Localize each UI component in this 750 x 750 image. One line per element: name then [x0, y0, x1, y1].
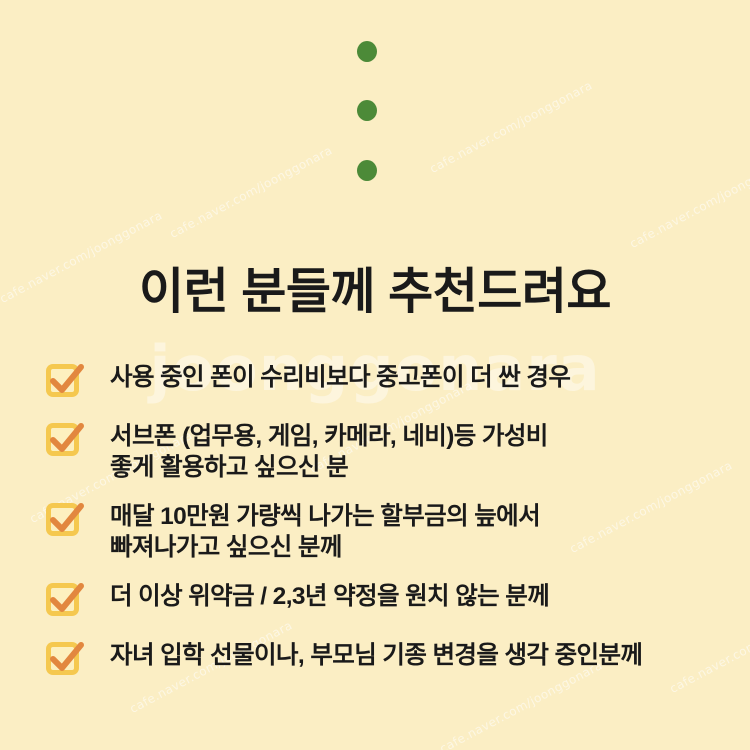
- recommendation-checklist: 사용 중인 폰이 수리비보다 중고폰이 더 싼 경우 서브폰 (업무용, 게임,…: [44, 356, 744, 693]
- list-item-line: 사용 중인 폰이 수리비보다 중고폰이 더 싼 경우: [110, 362, 570, 393]
- list-item: 사용 중인 폰이 수리비보다 중고폰이 더 싼 경우: [44, 356, 744, 401]
- list-item-line: 자녀 입학 선물이나, 부모님 기종 변경을 생각 중인분께: [110, 640, 642, 671]
- list-item: 자녀 입학 선물이나, 부모님 기종 변경을 생각 중인분께: [44, 634, 744, 679]
- checkbox-checked-icon: [44, 578, 86, 620]
- checkbox-checked-icon: [44, 637, 86, 679]
- list-item: 더 이상 위약금 / 2,3년 약정을 원치 않는 분께: [44, 575, 744, 620]
- list-item-text: 자녀 입학 선물이나, 부모님 기종 변경을 생각 중인분께: [110, 634, 642, 671]
- list-item-line: 매달 10만원 가량씩 나가는 할부금의 늪에서: [110, 501, 540, 532]
- green-dot-icon: [357, 41, 377, 62]
- watermark-tile: cafe.naver.com/joonggonara: [167, 143, 334, 241]
- list-item-text: 더 이상 위약금 / 2,3년 약정을 원치 않는 분께: [110, 575, 549, 612]
- list-item-line: 더 이상 위약금 / 2,3년 약정을 원치 않는 분께: [110, 581, 549, 612]
- list-item: 서브폰 (업무용, 게임, 카메라, 네비)등 가성비 좋게 활용하고 싶으신 …: [44, 415, 744, 483]
- list-item: 매달 10만원 가량씩 나가는 할부금의 늪에서 빠져나가고 싶으신 분께: [44, 495, 744, 563]
- list-item-text: 매달 10만원 가량씩 나가는 할부금의 늪에서 빠져나가고 싶으신 분께: [110, 495, 540, 563]
- list-item-line: 좋게 활용하고 싶으신 분: [110, 452, 548, 483]
- watermark-tile: cafe.naver.com/joonggonara: [427, 78, 594, 176]
- list-item-line: 서브폰 (업무용, 게임, 카메라, 네비)등 가성비: [110, 421, 548, 452]
- checkbox-checked-icon: [44, 359, 86, 401]
- watermark-tile: cafe.naver.com/joonggonara: [627, 153, 750, 251]
- page-title: 이런 분들께 추천드려요: [0, 252, 750, 323]
- list-item-line: 빠져나가고 싶으신 분께: [110, 532, 540, 563]
- list-item-text: 사용 중인 폰이 수리비보다 중고폰이 더 싼 경우: [110, 356, 570, 393]
- checkbox-checked-icon: [44, 418, 86, 460]
- green-dot-icon: [357, 160, 377, 181]
- poster-canvas: 이런 분들께 추천드려요 사용 중인 폰이 수리비보다 중고폰이 더 싼 경우: [0, 0, 750, 750]
- checkbox-checked-icon: [44, 498, 86, 540]
- list-item-text: 서브폰 (업무용, 게임, 카메라, 네비)등 가성비 좋게 활용하고 싶으신 …: [110, 415, 548, 483]
- green-dot-icon: [357, 100, 377, 121]
